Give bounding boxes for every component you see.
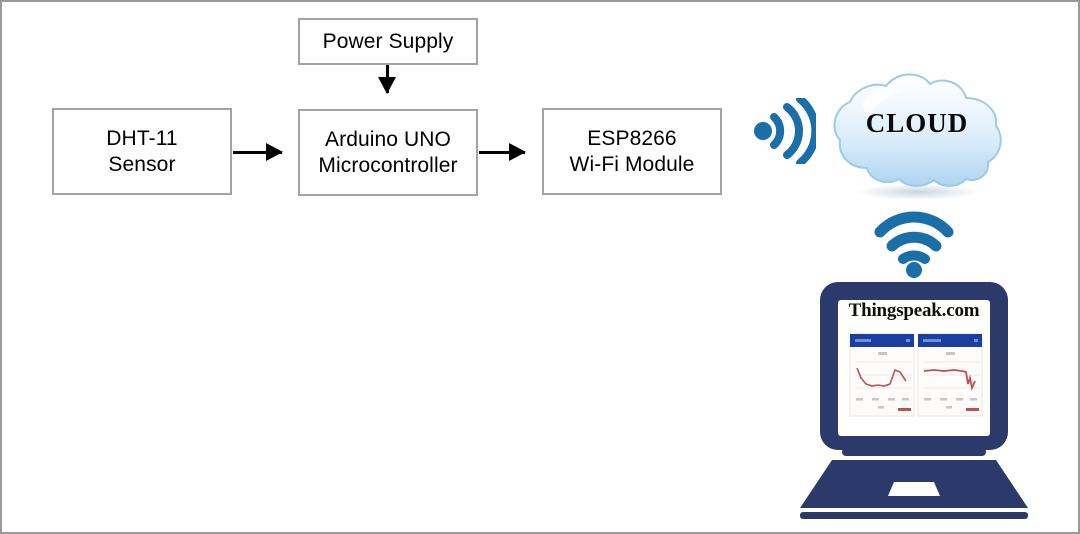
signal-sideways-icon (754, 98, 816, 164)
arrow-power-supply-to-arduino (386, 65, 389, 93)
block-arduino-uno: Arduino UNO Microcontroller (298, 109, 478, 196)
arrowhead-icon (509, 143, 526, 161)
block-dht-11-sensor: DHT-11 Sensor (52, 108, 232, 195)
block-esp8266: ESP8266 Wi-Fi Module (542, 108, 722, 195)
cloud-graphic: CLOUD (828, 64, 1006, 204)
arrow-dht-to-arduino (233, 151, 282, 154)
arrowhead-icon (378, 77, 396, 94)
arrow-arduino-to-esp8266 (479, 151, 525, 154)
laptop-graphic: Thingspeak.com (794, 280, 1034, 520)
wifi-up-icon (874, 208, 954, 278)
arrowhead-icon (266, 143, 283, 161)
cloud-label: CLOUD (828, 108, 1006, 139)
laptop-screen-title: Thingspeak.com (838, 300, 990, 322)
block-power-supply: Power Supply (298, 18, 478, 65)
diagram-canvas: Power Supply DHT-11 Sensor Arduino UNO M… (0, 0, 1080, 534)
